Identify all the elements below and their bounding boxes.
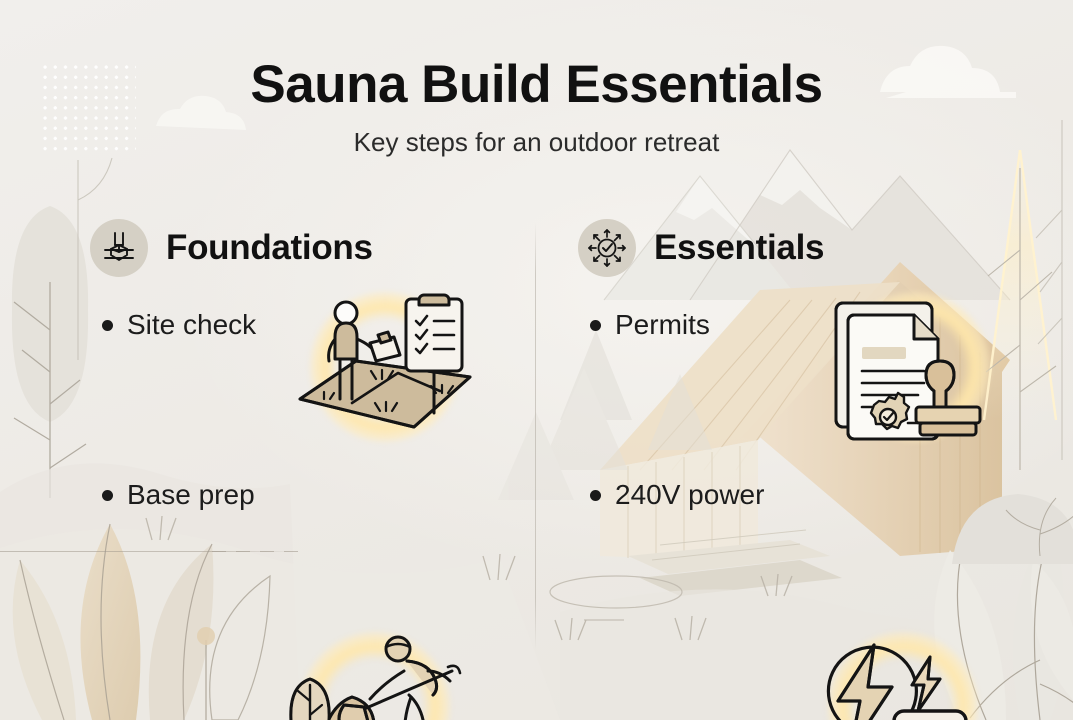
- page-subtitle: Key steps for an outdoor retreat: [0, 127, 1073, 158]
- column-essentials: Essentials Permits: [578, 215, 1048, 621]
- bullet-site-check: Site check: [102, 309, 256, 341]
- header: Sauna Build Essentials Key steps for an …: [0, 0, 1073, 158]
- pile-footing-icon: [90, 219, 148, 277]
- page-title: Sauna Build Essentials: [0, 56, 1073, 113]
- list-item: 240V power: [578, 451, 1048, 621]
- bullet-label: Base prep: [127, 479, 255, 511]
- permit-document-stamp-illustration: [820, 287, 1010, 447]
- list-item: Base prep: [90, 451, 560, 621]
- poplar-tree-left: [12, 206, 88, 498]
- column-header-foundations: Foundations: [90, 215, 560, 281]
- column-title-essentials: Essentials: [654, 228, 824, 268]
- infographic-canvas: Sauna Build Essentials Key steps for an …: [0, 0, 1073, 720]
- bullet-dot-icon: [590, 490, 601, 501]
- worker-digging-soil-illustration: [280, 627, 470, 720]
- bullet-permits: Permits: [590, 309, 710, 341]
- bullet-base-prep: Base prep: [102, 479, 255, 511]
- column-foundations: Foundations Site check: [90, 215, 560, 621]
- bullet-label: Site check: [127, 309, 256, 341]
- bullet-240v-power: 240V power: [590, 479, 764, 511]
- bullet-dot-icon: [590, 320, 601, 331]
- list-item: Permits: [578, 281, 1048, 451]
- list-item: Site check: [90, 281, 560, 451]
- bullet-label: Permits: [615, 309, 710, 341]
- check-circle-arrows-icon: [578, 219, 636, 277]
- bullet-label: 240V power: [615, 479, 764, 511]
- bullet-dot-icon: [102, 320, 113, 331]
- bullet-dot-icon: [102, 490, 113, 501]
- column-header-essentials: Essentials: [578, 215, 1048, 281]
- surveyor-site-plot-illustration: [290, 287, 480, 447]
- column-title-foundations: Foundations: [166, 228, 373, 268]
- lightning-bolt-outlet-illustration: [808, 627, 998, 720]
